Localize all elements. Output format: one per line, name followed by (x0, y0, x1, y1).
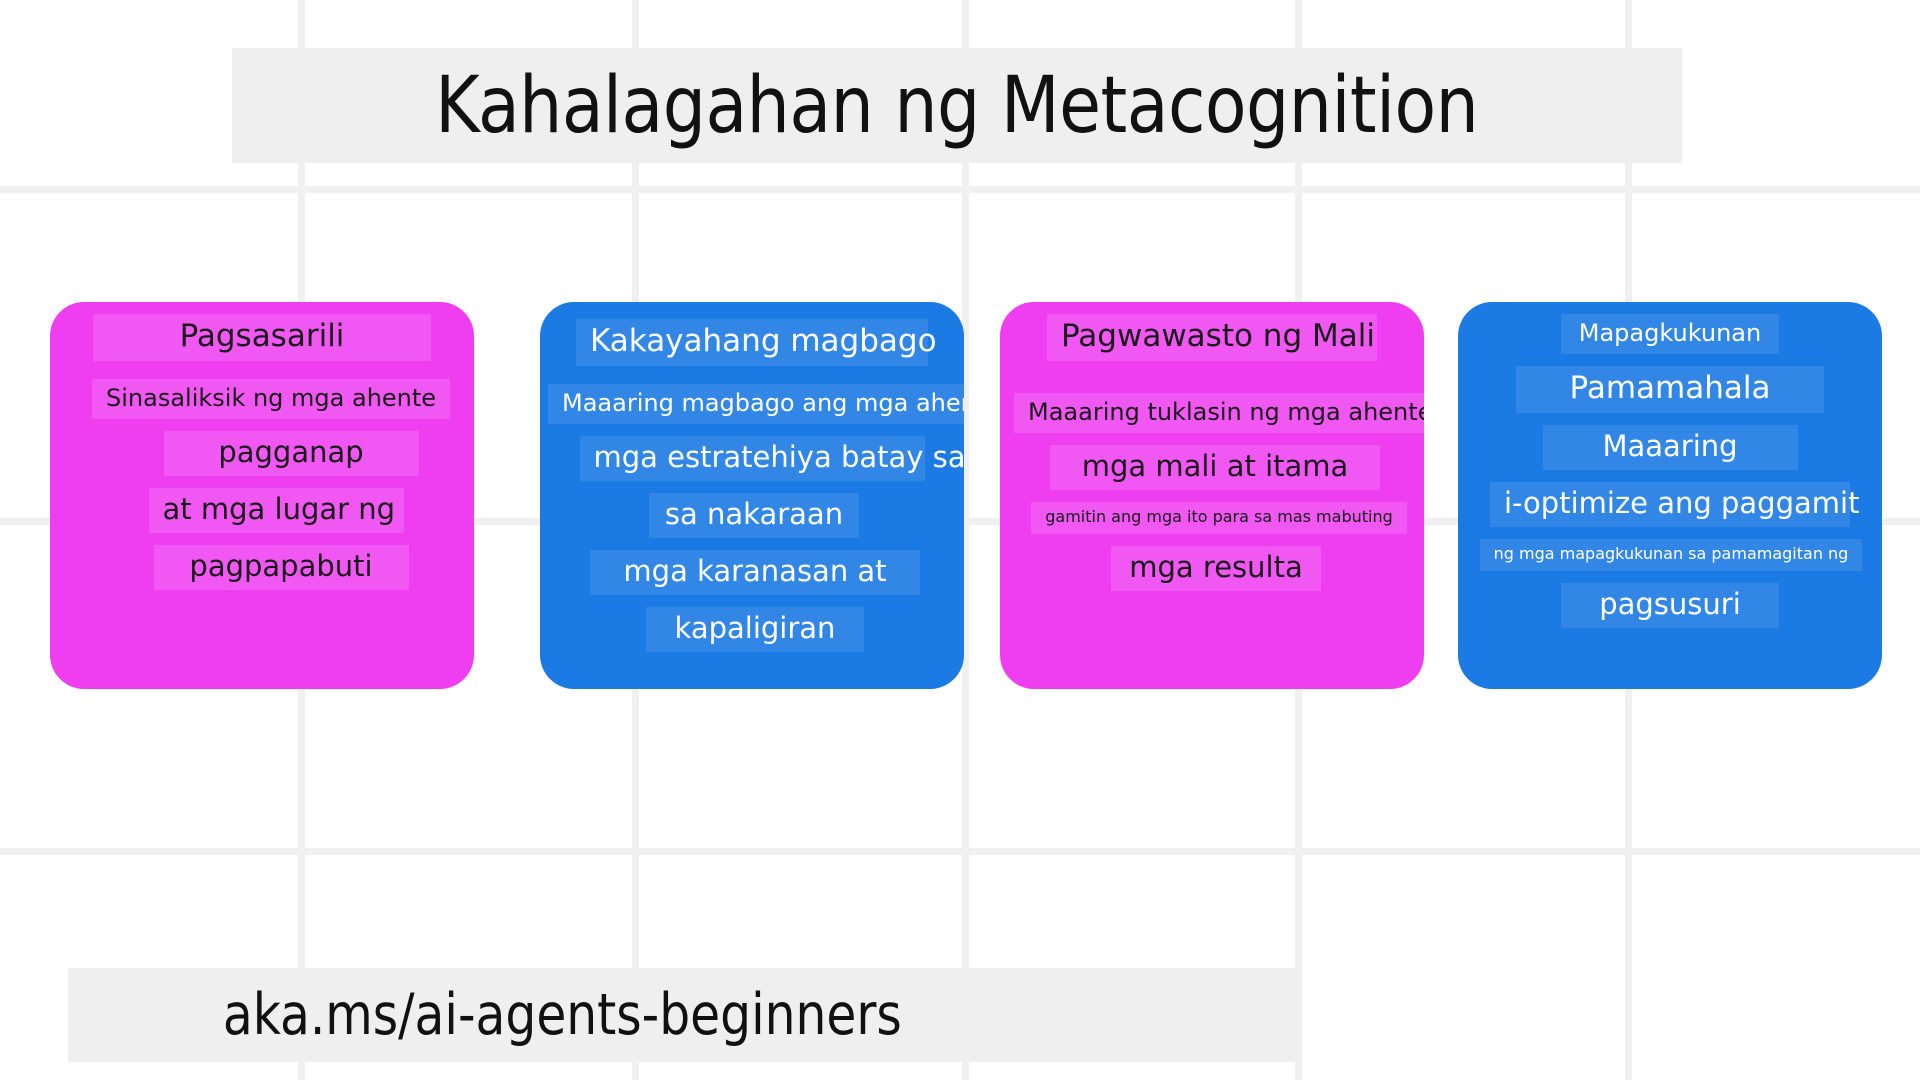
spacer (1000, 534, 1424, 546)
spacer (540, 366, 964, 384)
card-line-row: sa nakaraan (540, 493, 964, 538)
card-line: gamitin ang mga ito para sa mas mabuting (1031, 502, 1407, 534)
grid-line-horizontal (0, 848, 1920, 855)
card-heading: Pagwawasto ng Mali (1047, 314, 1377, 361)
card-line: i-optimize ang paggamit (1490, 482, 1850, 527)
card-line: ng mga mapagkukunan sa pamamagitan ng (1480, 539, 1863, 571)
spacer (1000, 361, 1424, 393)
card-line-row: gamitin ang mga ito para sa mas mabuting (1000, 502, 1424, 534)
card-heading: Mapagkukunan (1561, 314, 1779, 354)
card-heading: Kakayahang magbago (576, 319, 928, 366)
card-mapagkukunan-pamamahala[interactable]: Mapagkukunan Pamamahala Maaaring i-optim… (1458, 302, 1882, 689)
footer-banner: aka.ms/ai-agents-beginners (68, 968, 1300, 1062)
card-line: mga karanasan at (590, 550, 920, 595)
spacer (1000, 490, 1424, 502)
card-line-row: mga estratehiya batay sa (540, 436, 964, 481)
card-heading-row: Kakayahang magbago (540, 314, 964, 366)
card-subheading: Pamamahala (1516, 366, 1824, 413)
card-subheading-row: Pamamahala (1458, 366, 1882, 413)
card-line-row: i-optimize ang paggamit (1458, 482, 1882, 527)
card-line: Maaaring magbago ang mga ahente (548, 384, 964, 424)
card-pagsasarili[interactable]: Pagsasarili Sinasaliksik ng mga ahente p… (50, 302, 474, 689)
card-line: pagsusuri (1561, 583, 1779, 628)
whiteboard-canvas: Kahalagahan ng Metacognition Pagsasarili… (0, 0, 1920, 1080)
card-line-row: Sinasaliksik ng mga ahente (50, 379, 474, 419)
grid-line-horizontal (0, 186, 1920, 193)
spacer (50, 533, 474, 545)
card-line-row: pagsusuri (1458, 583, 1882, 628)
spacer (1458, 354, 1882, 366)
card-line-row: mga karanasan at (540, 550, 964, 595)
spacer (1458, 470, 1882, 482)
card-line-row: pagpapabuti (50, 545, 474, 590)
card-line-row: Maaaring (1458, 425, 1882, 470)
card-line: mga estratehiya batay sa (580, 436, 925, 481)
footer-url: aka.ms/ai-agents-beginners (223, 982, 902, 1048)
spacer (1458, 413, 1882, 425)
card-line: mga mali at itama (1050, 445, 1380, 490)
spacer (1000, 433, 1424, 445)
card-line: Sinasaliksik ng mga ahente (92, 379, 450, 419)
spacer (1458, 571, 1882, 583)
card-heading-row: Mapagkukunan (1458, 314, 1882, 354)
spacer (540, 595, 964, 607)
spacer (1458, 527, 1882, 539)
card-line-row: mga mali at itama (1000, 445, 1424, 490)
card-line-row: kapaligiran (540, 607, 964, 652)
card-heading: Pagsasarili (93, 314, 431, 361)
page-title: Kahalagahan ng Metacognition (435, 61, 1478, 151)
card-heading-row: Pagsasarili (50, 314, 474, 361)
spacer (540, 538, 964, 550)
card-line: pagpapabuti (154, 545, 409, 590)
card-line-row: pagganap (50, 431, 474, 476)
card-heading-row: Pagwawasto ng Mali (1000, 314, 1424, 361)
card-kakayahang-magbago[interactable]: Kakayahang magbago Maaaring magbago ang … (540, 302, 964, 689)
card-line: Maaaring tuklasin ng mga ahente (1014, 393, 1424, 433)
card-line: Maaaring (1543, 425, 1798, 470)
card-line-row: ng mga mapagkukunan sa pamamagitan ng (1458, 539, 1882, 571)
card-line: pagganap (164, 431, 419, 476)
card-line: at mga lugar ng (149, 488, 404, 533)
card-line-row: Maaaring tuklasin ng mga ahente (1000, 393, 1424, 433)
card-line-row: at mga lugar ng (50, 488, 474, 533)
title-banner: Kahalagahan ng Metacognition (232, 48, 1682, 163)
spacer (540, 424, 964, 436)
card-line: sa nakaraan (649, 493, 859, 538)
card-line-row: Maaaring magbago ang mga ahente (540, 384, 964, 424)
card-pagwawasto-ng-mali[interactable]: Pagwawasto ng Mali Maaaring tuklasin ng … (1000, 302, 1424, 689)
spacer (540, 481, 964, 493)
card-line: kapaligiran (646, 607, 864, 652)
spacer (50, 476, 474, 488)
spacer (50, 419, 474, 431)
card-line: mga resulta (1111, 546, 1321, 591)
card-line-row: mga resulta (1000, 546, 1424, 591)
spacer (50, 361, 474, 379)
